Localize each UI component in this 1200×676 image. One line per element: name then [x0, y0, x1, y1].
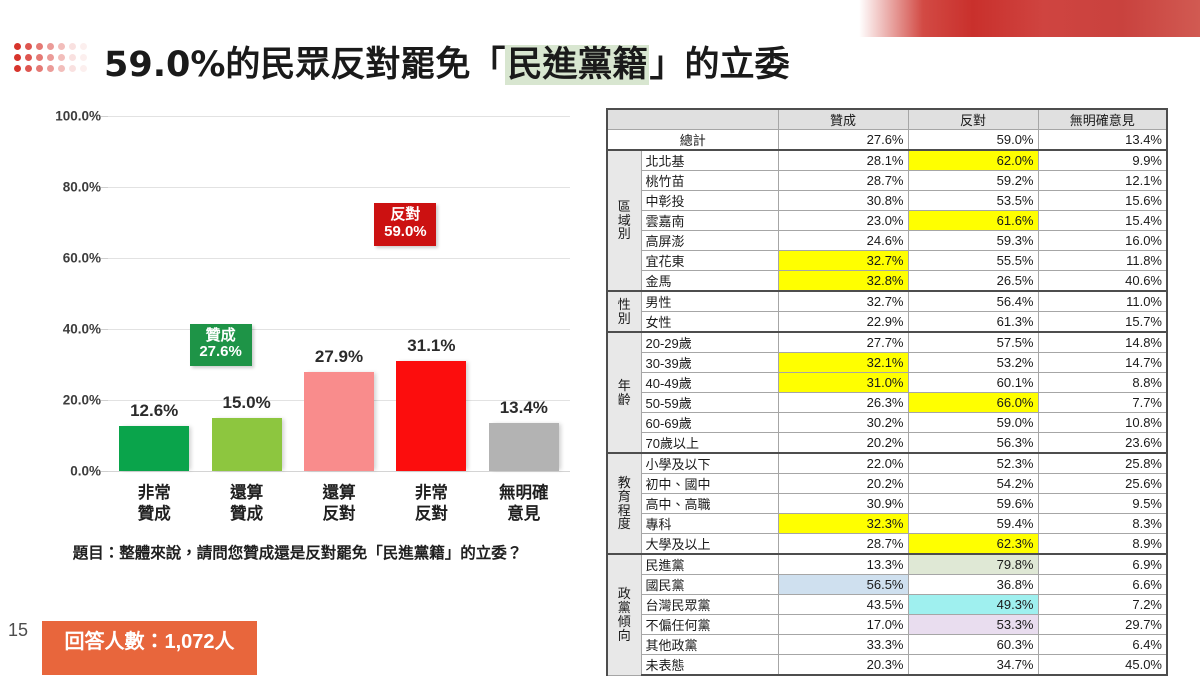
table-cell-value: 56.5%: [778, 575, 908, 595]
table-head: 贊成反對無明確意見: [607, 109, 1167, 130]
table-cell-value: 20.2%: [778, 433, 908, 454]
table-row-label: 雲嘉南: [641, 211, 778, 231]
table-cell-value: 59.3%: [908, 231, 1038, 251]
respondents-badge: 回答人數：1,072人: [42, 621, 257, 675]
chart-x-label: 還算反對: [296, 483, 382, 524]
table-cell-value: 11.8%: [1038, 251, 1167, 271]
table-cell-value: 22.0%: [778, 453, 908, 474]
table-cell-value: 30.2%: [778, 413, 908, 433]
table-cell-value: 62.3%: [908, 534, 1038, 555]
decorative-dot: [47, 43, 54, 50]
chart-bar-group[interactable]: 27.9%: [304, 116, 374, 471]
table-row: 宜花東32.7%55.5%11.8%: [607, 251, 1167, 271]
chart-y-tick-label: 20.0%: [63, 393, 101, 408]
chart-y-tick: [101, 471, 108, 472]
chart-y-tick: [101, 400, 108, 401]
agree-callout-value: 27.6%: [190, 344, 252, 361]
chart-x-label: 還算贊成: [204, 483, 290, 524]
chart-y-tick: [101, 258, 108, 259]
table-cell-value: 9.9%: [1038, 150, 1167, 171]
decorative-dot: [80, 43, 87, 50]
table-cell-value: 60.3%: [908, 635, 1038, 655]
chart-x-label: 無明確意見: [481, 483, 567, 524]
page-title-prefix: 59.0%的民眾反對罷免「: [104, 45, 505, 85]
table-row-label: 中彰投: [641, 191, 778, 211]
decorative-dot: [47, 54, 54, 61]
decorative-dot: [69, 65, 76, 72]
chart-y-tick-label: 40.0%: [63, 322, 101, 337]
table-cell-value: 20.3%: [778, 655, 908, 676]
table-cell-value: 59.4%: [908, 514, 1038, 534]
table-row-label: 桃竹苗: [641, 171, 778, 191]
chart-y-tick-label: 100.0%: [55, 109, 101, 124]
table-row: 其他政黨33.3%60.3%6.4%: [607, 635, 1167, 655]
decorative-dot: [69, 54, 76, 61]
table-row: 政黨傾向民進黨13.3%79.8%6.9%: [607, 554, 1167, 575]
decorative-dot: [36, 43, 43, 50]
table-cell-value: 27.7%: [778, 332, 908, 353]
table-cell-value: 43.5%: [778, 595, 908, 615]
table-cell-value: 8.9%: [1038, 534, 1167, 555]
chart-x-label-line: 贊成: [204, 504, 290, 525]
table-cell-value: 59.2%: [908, 171, 1038, 191]
table-cell-value: 25.6%: [1038, 474, 1167, 494]
table-cell-value: 15.4%: [1038, 211, 1167, 231]
chart-bar-group[interactable]: 12.6%: [119, 116, 189, 471]
table-row: 高屏澎24.6%59.3%16.0%: [607, 231, 1167, 251]
table-cell-value: 61.3%: [908, 312, 1038, 333]
table-cell-value: 16.0%: [1038, 231, 1167, 251]
chart-x-label: 非常反對: [388, 483, 474, 524]
table-cell-value: 22.9%: [778, 312, 908, 333]
table-row-label: 金馬: [641, 271, 778, 292]
table-cell-value: 60.1%: [908, 373, 1038, 393]
decorative-dot: [25, 54, 32, 61]
chart-gridline: [108, 471, 570, 472]
table-row-label: 20-29歲: [641, 332, 778, 353]
table-row-label: 專科: [641, 514, 778, 534]
table-cell-value: 49.3%: [908, 595, 1038, 615]
table-col-header: 贊成: [778, 109, 908, 130]
table-row: 70歲以上20.2%56.3%23.6%: [607, 433, 1167, 454]
table-cell-value: 11.0%: [1038, 291, 1167, 312]
chart-y-tick-label: 60.0%: [63, 251, 101, 266]
table-row-label: 50-59歲: [641, 393, 778, 413]
table-cell-value: 10.8%: [1038, 413, 1167, 433]
table-cell-value: 32.7%: [778, 251, 908, 271]
decorative-dot: [25, 65, 32, 72]
table-row: 台灣民眾黨43.5%49.3%7.2%: [607, 595, 1167, 615]
table-cell-value: 79.8%: [908, 554, 1038, 575]
table-row-label: 60-69歲: [641, 413, 778, 433]
page-title: 59.0%的民眾反對罷免「民進黨籍」的立委: [104, 36, 789, 87]
table-cell-value: 7.2%: [1038, 595, 1167, 615]
table-cell-value: 66.0%: [908, 393, 1038, 413]
table-row: 40-49歲31.0%60.1%8.8%: [607, 373, 1167, 393]
chart-plot-area: 0.0%20.0%40.0%60.0%80.0%100.0%12.6%15.0%…: [108, 116, 570, 471]
decorative-dot: [25, 43, 32, 50]
chart-x-label-line: 無明確: [481, 483, 567, 504]
table-row-label: 北北基: [641, 150, 778, 171]
table-cell-value: 57.5%: [908, 332, 1038, 353]
table-row-label: 大學及以上: [641, 534, 778, 555]
chart-x-label-line: 非常: [388, 483, 474, 504]
table-cell-value: 32.1%: [778, 353, 908, 373]
table-cell-value: 59.0%: [908, 413, 1038, 433]
table-row: 初中、國中20.2%54.2%25.6%: [607, 474, 1167, 494]
chart-x-label-line: 反對: [296, 504, 382, 525]
decorative-dot: [14, 54, 21, 61]
page-title-suffix: 」的立委: [649, 45, 789, 85]
table-row-label: 不偏任何黨: [641, 615, 778, 635]
table-col-header-blank: [607, 109, 778, 130]
chart-bar-group[interactable]: 13.4%: [489, 116, 559, 471]
chart-x-label-line: 還算: [296, 483, 382, 504]
decorative-dot: [36, 65, 43, 72]
table-cell-value: 6.4%: [1038, 635, 1167, 655]
table-cell-value: 53.3%: [908, 615, 1038, 635]
table-row: 中彰投30.8%53.5%15.6%: [607, 191, 1167, 211]
oppose-callout: 反對59.0%: [374, 203, 436, 246]
table-cell-value: 32.8%: [778, 271, 908, 292]
table-row-label: 男性: [641, 291, 778, 312]
table-row: 區域別北北基28.1%62.0%9.9%: [607, 150, 1167, 171]
chart-bar-value-label: 12.6%: [130, 401, 178, 421]
agree-callout-label: 贊成: [190, 328, 252, 345]
table-row-label: 30-39歲: [641, 353, 778, 373]
chart-y-tick: [101, 329, 108, 330]
decorative-dot: [80, 65, 87, 72]
table-col-header: 無明確意見: [1038, 109, 1167, 130]
table-group-label: 年齡: [607, 332, 641, 453]
table-row: 桃竹苗28.7%59.2%12.1%: [607, 171, 1167, 191]
table-cell-value: 13.4%: [1038, 130, 1167, 151]
table-cell-value: 29.7%: [1038, 615, 1167, 635]
table-cell-value: 26.3%: [778, 393, 908, 413]
table-cell-value: 15.6%: [1038, 191, 1167, 211]
table-cell-value: 28.1%: [778, 150, 908, 171]
chart-bar-value-label: 13.4%: [500, 398, 548, 418]
chart-y-tick: [101, 116, 108, 117]
table-cell-value: 59.0%: [908, 130, 1038, 151]
table-row: 女性22.9%61.3%15.7%: [607, 312, 1167, 333]
table-group-label: 政黨傾向: [607, 554, 641, 675]
chart-bar-group[interactable]: 31.1%: [396, 116, 466, 471]
table-cell-value: 14.7%: [1038, 353, 1167, 373]
table-row-label: 70歲以上: [641, 433, 778, 454]
table-col-header: 反對: [908, 109, 1038, 130]
table-row: 金馬32.8%26.5%40.6%: [607, 271, 1167, 292]
table-cell-value: 32.7%: [778, 291, 908, 312]
chart-bar-value-label: 27.9%: [315, 347, 363, 367]
chart-bar[interactable]: [304, 372, 374, 471]
table-cell-value: 8.8%: [1038, 373, 1167, 393]
table-group-label: 性別: [607, 291, 641, 332]
decorative-dot: [14, 43, 21, 50]
table-row-label: 民進黨: [641, 554, 778, 575]
table-cell-value: 53.2%: [908, 353, 1038, 373]
oppose-callout-label: 反對: [374, 207, 436, 224]
table-row: 60-69歲30.2%59.0%10.8%: [607, 413, 1167, 433]
table-cell-value: 20.2%: [778, 474, 908, 494]
decorative-dot: [58, 43, 65, 50]
decorative-dot: [58, 65, 65, 72]
table-cell-value: 34.7%: [908, 655, 1038, 676]
chart-x-label-line: 非常: [111, 483, 197, 504]
table-row: 教育程度小學及以下22.0%52.3%25.8%: [607, 453, 1167, 474]
decorative-dot: [80, 54, 87, 61]
chart-y-tick: [101, 187, 108, 188]
table-row-label: 女性: [641, 312, 778, 333]
table-row: 30-39歲32.1%53.2%14.7%: [607, 353, 1167, 373]
table-row-label: 台灣民眾黨: [641, 595, 778, 615]
chart-bars: 12.6%15.0%27.9%31.1%13.4%贊成27.6%反對59.0%: [108, 116, 570, 471]
top-accent-bar: [845, 0, 1200, 37]
table-cell-value: 15.7%: [1038, 312, 1167, 333]
table-group-label: 區域別: [607, 150, 641, 291]
table-cell-value: 30.9%: [778, 494, 908, 514]
table-row: 50-59歲26.3%66.0%7.7%: [607, 393, 1167, 413]
chart-y-tick-label: 0.0%: [70, 464, 101, 479]
table-row: 雲嘉南23.0%61.6%15.4%: [607, 211, 1167, 231]
decorative-dot: [36, 54, 43, 61]
table-row-label: 總計: [607, 130, 778, 151]
chart-x-axis-labels: 非常贊成還算贊成還算反對非常反對無明確意見: [108, 483, 570, 543]
table-cell-value: 8.3%: [1038, 514, 1167, 534]
table-row: 大學及以上28.7%62.3%8.9%: [607, 534, 1167, 555]
table-cell-value: 36.8%: [908, 575, 1038, 595]
decorative-dot: [58, 54, 65, 61]
table-cell-value: 23.6%: [1038, 433, 1167, 454]
crosstab-table-wrapper: 贊成反對無明確意見 總計27.6%59.0%13.4%區域別北北基28.1%62…: [606, 108, 1166, 676]
table-cell-value: 13.3%: [778, 554, 908, 575]
table-cell-value: 59.6%: [908, 494, 1038, 514]
table-cell-value: 6.6%: [1038, 575, 1167, 595]
table-cell-value: 31.0%: [778, 373, 908, 393]
table-row: 性別男性32.7%56.4%11.0%: [607, 291, 1167, 312]
table-cell-value: 28.7%: [778, 171, 908, 191]
decorative-dot: [69, 43, 76, 50]
table-group-label: 教育程度: [607, 453, 641, 554]
page-number: 15: [8, 620, 28, 641]
table-row: 年齡20-29歲27.7%57.5%14.8%: [607, 332, 1167, 353]
table-row-label: 宜花東: [641, 251, 778, 271]
table-cell-value: 14.8%: [1038, 332, 1167, 353]
decorative-dot: [47, 65, 54, 72]
chart-caption: 題目：整體來說，請問您贊成還是反對罷免「民進黨籍」的立委？: [0, 541, 595, 563]
table-row: 未表態20.3%34.7%45.0%: [607, 655, 1167, 676]
table-cell-value: 53.5%: [908, 191, 1038, 211]
table-cell-value: 55.5%: [908, 251, 1038, 271]
table-cell-value: 26.5%: [908, 271, 1038, 292]
chart-x-label-line: 贊成: [111, 504, 197, 525]
table-row-label: 初中、國中: [641, 474, 778, 494]
chart-x-label-line: 還算: [204, 483, 290, 504]
bar-chart-panel: 0.0%20.0%40.0%60.0%80.0%100.0%12.6%15.0%…: [0, 100, 595, 570]
chart-bar[interactable]: [396, 361, 466, 471]
chart-bar-value-label: 15.0%: [222, 393, 270, 413]
table-row: 高中、高職30.9%59.6%9.5%: [607, 494, 1167, 514]
table-cell-value: 27.6%: [778, 130, 908, 151]
chart-x-label-line: 意見: [481, 504, 567, 525]
chart-bar[interactable]: [212, 418, 282, 471]
table-cell-value: 28.7%: [778, 534, 908, 555]
table-cell-value: 12.1%: [1038, 171, 1167, 191]
chart-bar[interactable]: [119, 426, 189, 471]
table-cell-value: 6.9%: [1038, 554, 1167, 575]
chart-bar-group[interactable]: 15.0%: [212, 116, 282, 471]
table-cell-value: 30.8%: [778, 191, 908, 211]
chart-bar[interactable]: [489, 423, 559, 471]
table-row-label: 高屏澎: [641, 231, 778, 251]
crosstab-table: 贊成反對無明確意見 總計27.6%59.0%13.4%區域別北北基28.1%62…: [606, 108, 1168, 676]
table-row-label: 小學及以下: [641, 453, 778, 474]
table-cell-value: 9.5%: [1038, 494, 1167, 514]
table-row: 國民黨56.5%36.8%6.6%: [607, 575, 1167, 595]
table-cell-value: 7.7%: [1038, 393, 1167, 413]
table-row: 專科32.3%59.4%8.3%: [607, 514, 1167, 534]
chart-x-label-line: 反對: [388, 504, 474, 525]
oppose-callout-value: 59.0%: [374, 224, 436, 241]
table-row-label: 40-49歲: [641, 373, 778, 393]
table-row-label: 未表態: [641, 655, 778, 676]
chart-y-tick-label: 80.0%: [63, 180, 101, 195]
table-cell-value: 54.2%: [908, 474, 1038, 494]
table-cell-value: 23.0%: [778, 211, 908, 231]
table-cell-value: 52.3%: [908, 453, 1038, 474]
table-cell-value: 33.3%: [778, 635, 908, 655]
table-row-label: 其他政黨: [641, 635, 778, 655]
table-cell-value: 40.6%: [1038, 271, 1167, 292]
table-cell-value: 45.0%: [1038, 655, 1167, 676]
table-row-total: 總計27.6%59.0%13.4%: [607, 130, 1167, 151]
table-cell-value: 24.6%: [778, 231, 908, 251]
page-title-highlight: 民進黨籍: [505, 45, 649, 85]
table-row-label: 高中、高職: [641, 494, 778, 514]
table-cell-value: 56.3%: [908, 433, 1038, 454]
table-row: 不偏任何黨17.0%53.3%29.7%: [607, 615, 1167, 635]
agree-callout: 贊成27.6%: [190, 324, 252, 367]
table-cell-value: 62.0%: [908, 150, 1038, 171]
decorative-dot: [14, 65, 21, 72]
table-cell-value: 56.4%: [908, 291, 1038, 312]
chart-bar-value-label: 31.1%: [407, 336, 455, 356]
table-cell-value: 32.3%: [778, 514, 908, 534]
table-cell-value: 17.0%: [778, 615, 908, 635]
table-cell-value: 25.8%: [1038, 453, 1167, 474]
table-cell-value: 61.6%: [908, 211, 1038, 231]
table-header-row: 贊成反對無明確意見: [607, 109, 1167, 130]
table-body: 總計27.6%59.0%13.4%區域別北北基28.1%62.0%9.9%桃竹苗…: [607, 130, 1167, 676]
dot-grid-decoration: [12, 41, 89, 74]
table-row-label: 國民黨: [641, 575, 778, 595]
chart-x-label: 非常贊成: [111, 483, 197, 524]
